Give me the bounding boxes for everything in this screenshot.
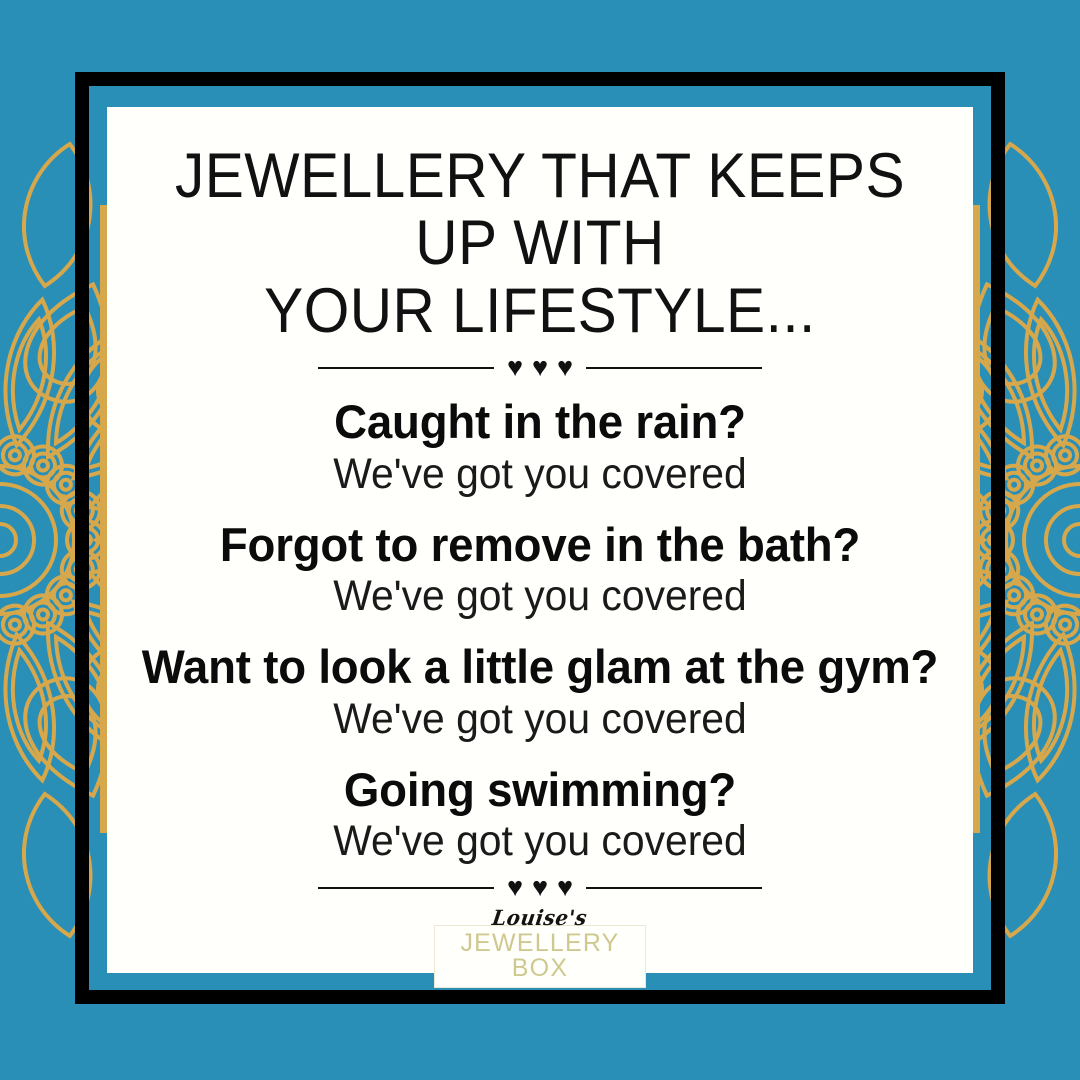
heart-icon: ♥ — [557, 354, 573, 381]
heart-divider-bottom: ♥ ♥ ♥ — [318, 874, 762, 901]
list-item: Going swimming? We've got you covered — [129, 765, 951, 866]
benefit-list: Caught in the rain? We've got you covere… — [129, 397, 951, 865]
benefit-question: Going swimming? — [141, 765, 938, 814]
brand-script-name: Louise's — [491, 905, 589, 930]
divider-rule-right — [586, 887, 762, 889]
page-title: JEWELLERY THAT KEEPS UP WITH YOUR LIFEST… — [158, 143, 922, 345]
brand-logo: Louise's JEWELLERY BOX — [434, 905, 646, 988]
benefit-question: Caught in the rain? — [141, 397, 938, 446]
poster-content-card: JEWELLERY THAT KEEPS UP WITH YOUR LIFEST… — [107, 107, 973, 973]
heart-group-bottom: ♥ ♥ ♥ — [494, 874, 586, 901]
poster-canvas: JEWELLERY THAT KEEPS UP WITH YOUR LIFEST… — [0, 0, 1080, 1080]
benefit-answer: We've got you covered — [150, 817, 931, 865]
heart-divider-top: ♥ ♥ ♥ — [318, 354, 762, 381]
poster-footer: ♥ ♥ ♥ Louise's JEWELLERY BOX — [129, 865, 951, 996]
benefit-answer: We've got you covered — [150, 450, 931, 498]
list-item: Want to look a little glam at the gym? W… — [129, 642, 951, 743]
divider-rule-right — [586, 367, 762, 369]
benefit-answer: We've got you covered — [150, 572, 931, 620]
heart-icon: ♥ — [532, 354, 548, 381]
heart-icon: ♥ — [532, 874, 548, 901]
heart-icon: ♥ — [507, 874, 523, 901]
heart-icon: ♥ — [557, 874, 573, 901]
divider-rule-left — [318, 367, 494, 369]
list-item: Forgot to remove in the bath? We've got … — [129, 520, 951, 621]
benefit-question: Want to look a little glam at the gym? — [141, 642, 938, 691]
brand-name: JEWELLERY BOX — [439, 931, 641, 981]
heart-group-top: ♥ ♥ ♥ — [494, 354, 586, 381]
benefit-question: Forgot to remove in the bath? — [141, 520, 938, 569]
list-item: Caught in the rain? We've got you covere… — [129, 397, 951, 498]
heart-icon: ♥ — [507, 354, 523, 381]
benefit-answer: We've got you covered — [150, 695, 931, 743]
divider-rule-left — [318, 887, 494, 889]
brand-name-box: JEWELLERY BOX — [434, 925, 646, 988]
